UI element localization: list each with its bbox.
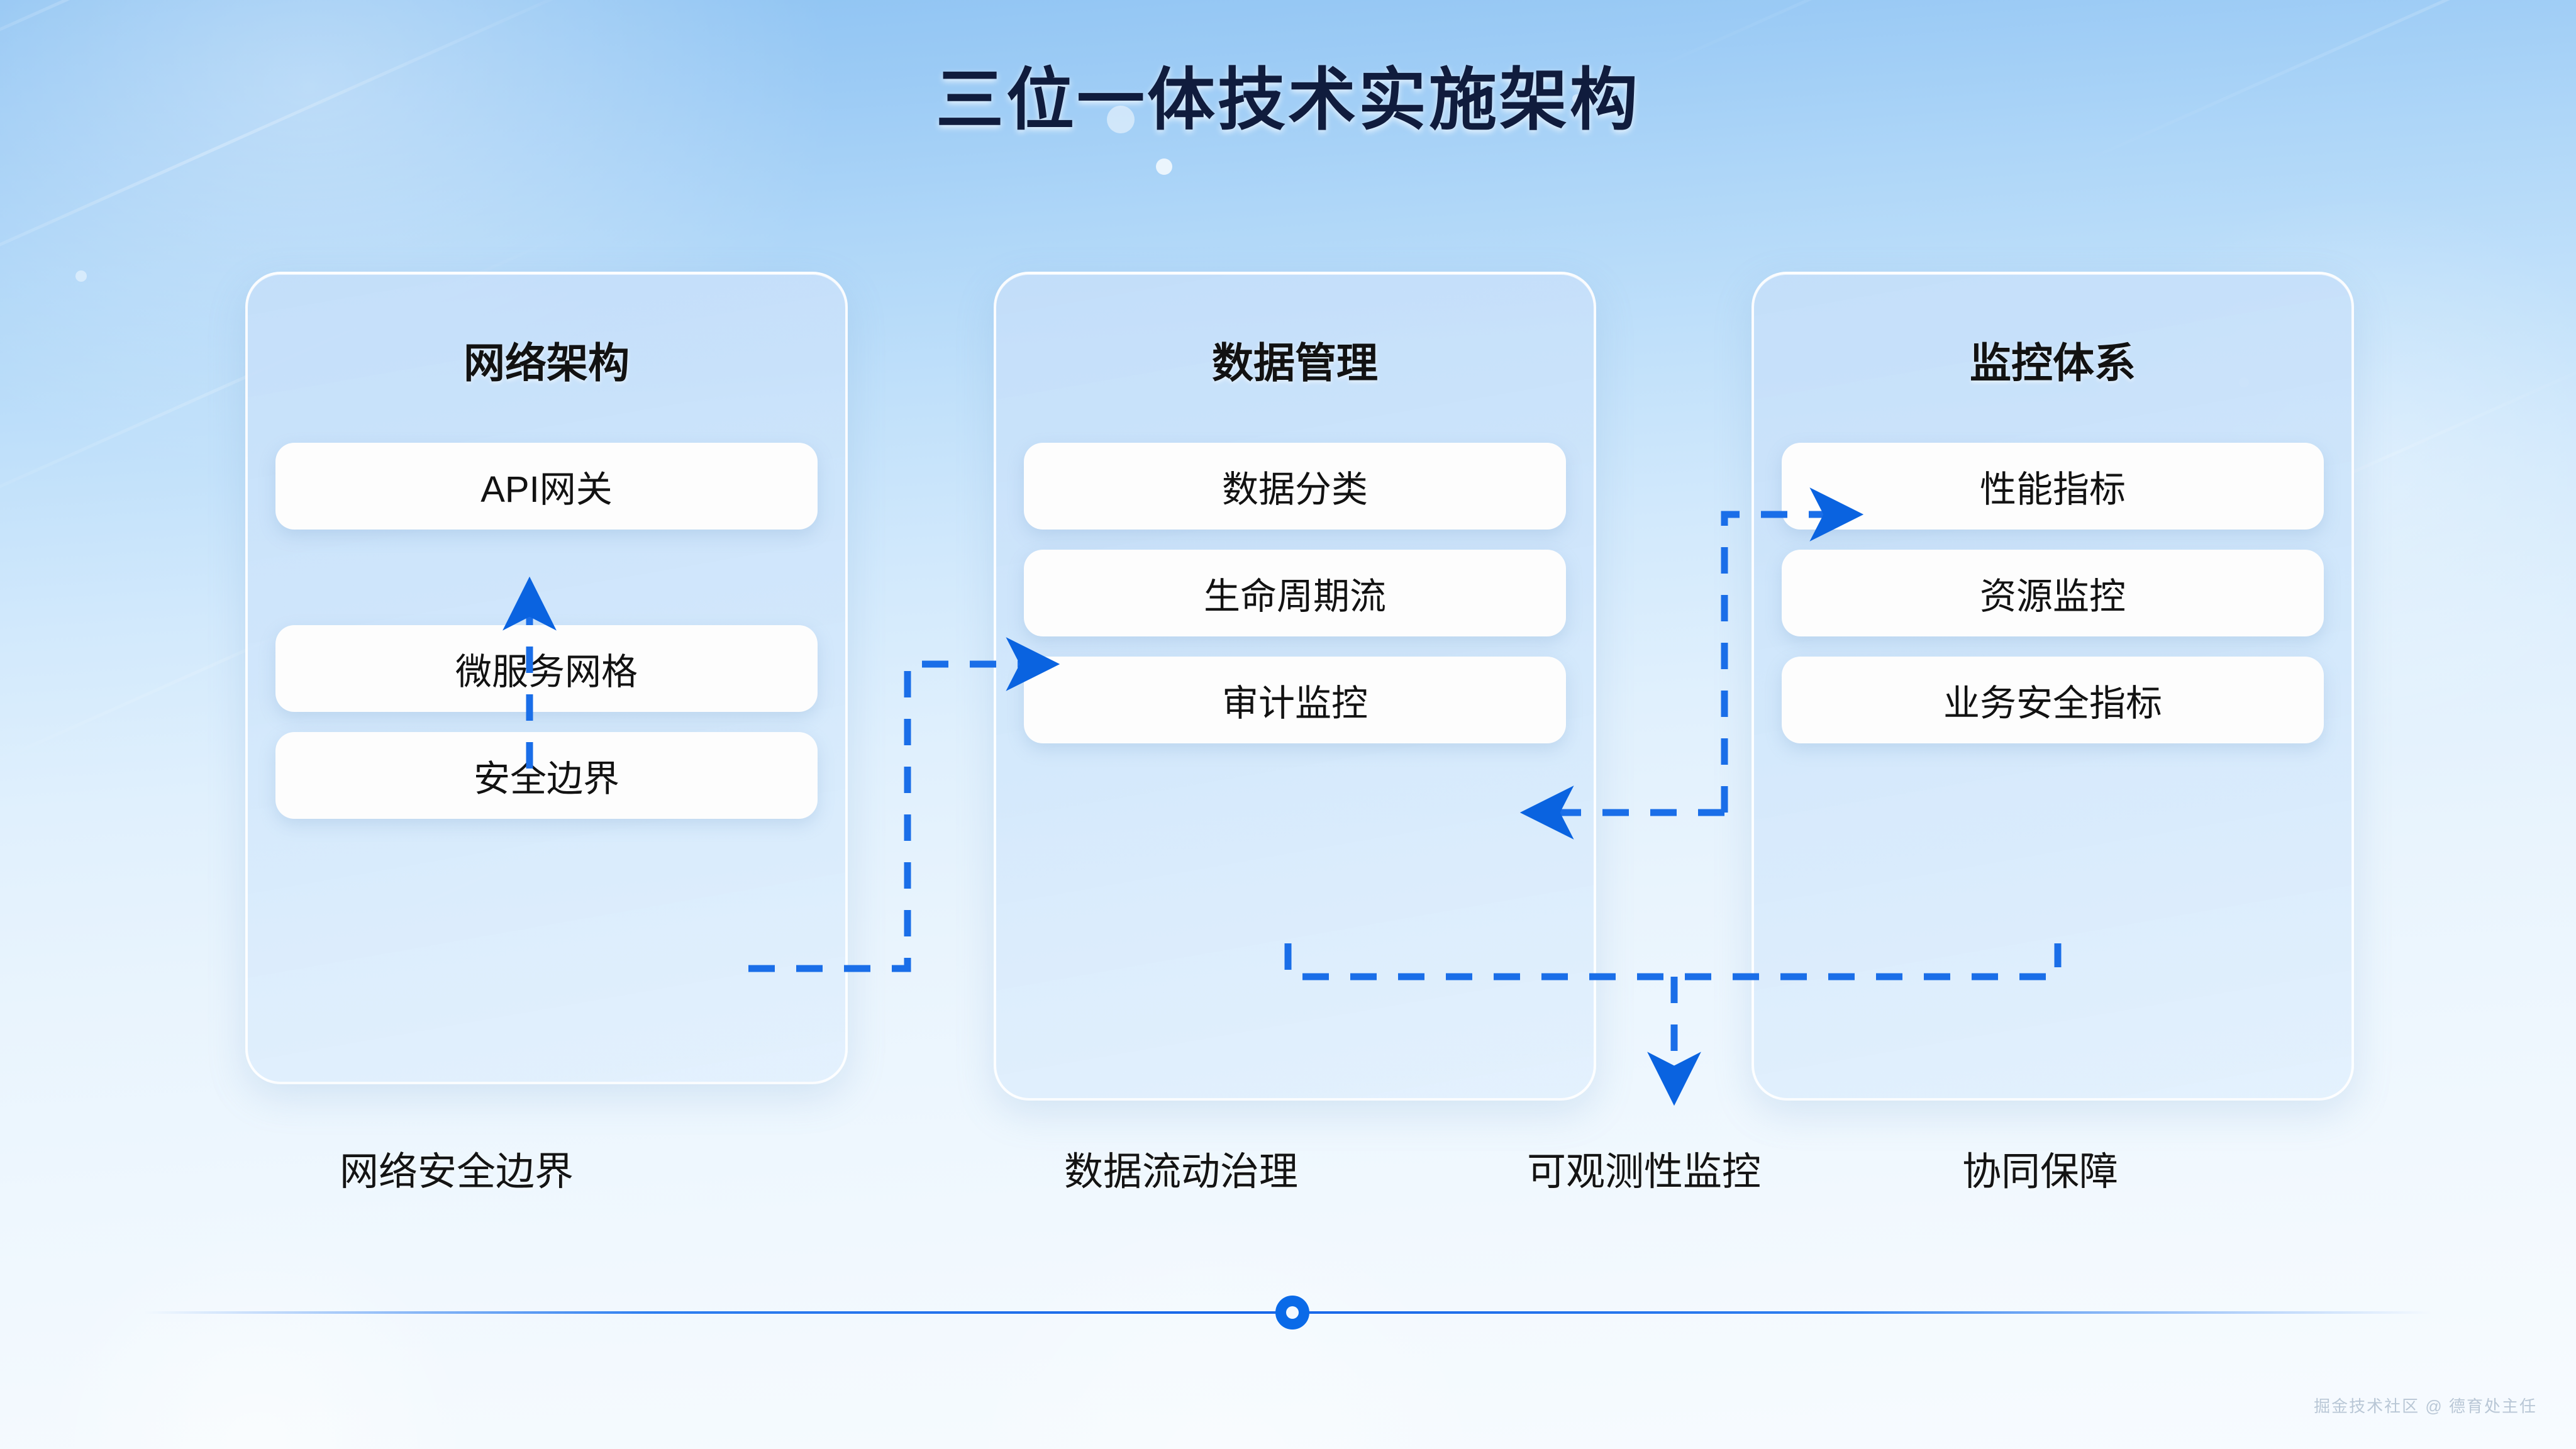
panel-data-items: 数据分类 生命周期流 审计监控 xyxy=(1024,443,1566,743)
caption-data-flow-governance: 数据流动治理 xyxy=(1064,1140,1298,1196)
panel-monitor: 监控体系 性能指标 资源监控 业务安全指标 xyxy=(1752,272,2354,1101)
node-data-classification[interactable]: 数据分类 xyxy=(1024,443,1566,530)
node-security-boundary[interactable]: 安全边界 xyxy=(275,732,818,819)
decor-glow xyxy=(38,1226,478,1449)
decor-glow xyxy=(943,1195,1509,1449)
node-microservice-mesh[interactable]: 微服务网格 xyxy=(275,625,818,712)
panel-monitor-title: 监控体系 xyxy=(1754,330,2351,390)
panel-data: 数据管理 数据分类 生命周期流 审计监控 xyxy=(994,272,1596,1101)
panel-data-title: 数据管理 xyxy=(996,330,1594,390)
caption-network-security-boundary: 网络安全边界 xyxy=(340,1140,574,1196)
node-performance-metrics[interactable]: 性能指标 xyxy=(1782,443,2324,530)
node-business-security-metrics[interactable]: 业务安全指标 xyxy=(1782,657,2324,743)
panel-network: 网络架构 API网关 微服务网格 安全边界 xyxy=(245,272,848,1084)
caption-collaborative-assurance: 协同保障 xyxy=(1962,1140,2118,1196)
node-audit-monitor[interactable]: 审计监控 xyxy=(1024,657,1566,743)
panel-network-items: API网关 微服务网格 安全边界 xyxy=(275,443,818,819)
node-lifecycle-flow[interactable]: 生命周期流 xyxy=(1024,550,1566,636)
node-resource-monitor[interactable]: 资源监控 xyxy=(1782,550,2324,636)
page-title: 三位一体技术实施架构 xyxy=(0,45,2576,143)
decor-dot xyxy=(75,270,87,282)
footer-divider-dot-icon xyxy=(1275,1296,1309,1330)
caption-observability-monitoring: 可观测性监控 xyxy=(1527,1140,1761,1196)
panel-monitor-items: 性能指标 资源监控 业务安全指标 xyxy=(1782,443,2324,743)
watermark: 掘金技术社区 @ 德育处主任 xyxy=(2314,1394,2537,1417)
decor-dot xyxy=(1156,158,1172,175)
panel-network-title: 网络架构 xyxy=(248,330,845,390)
node-api-gateway[interactable]: API网关 xyxy=(275,443,818,530)
